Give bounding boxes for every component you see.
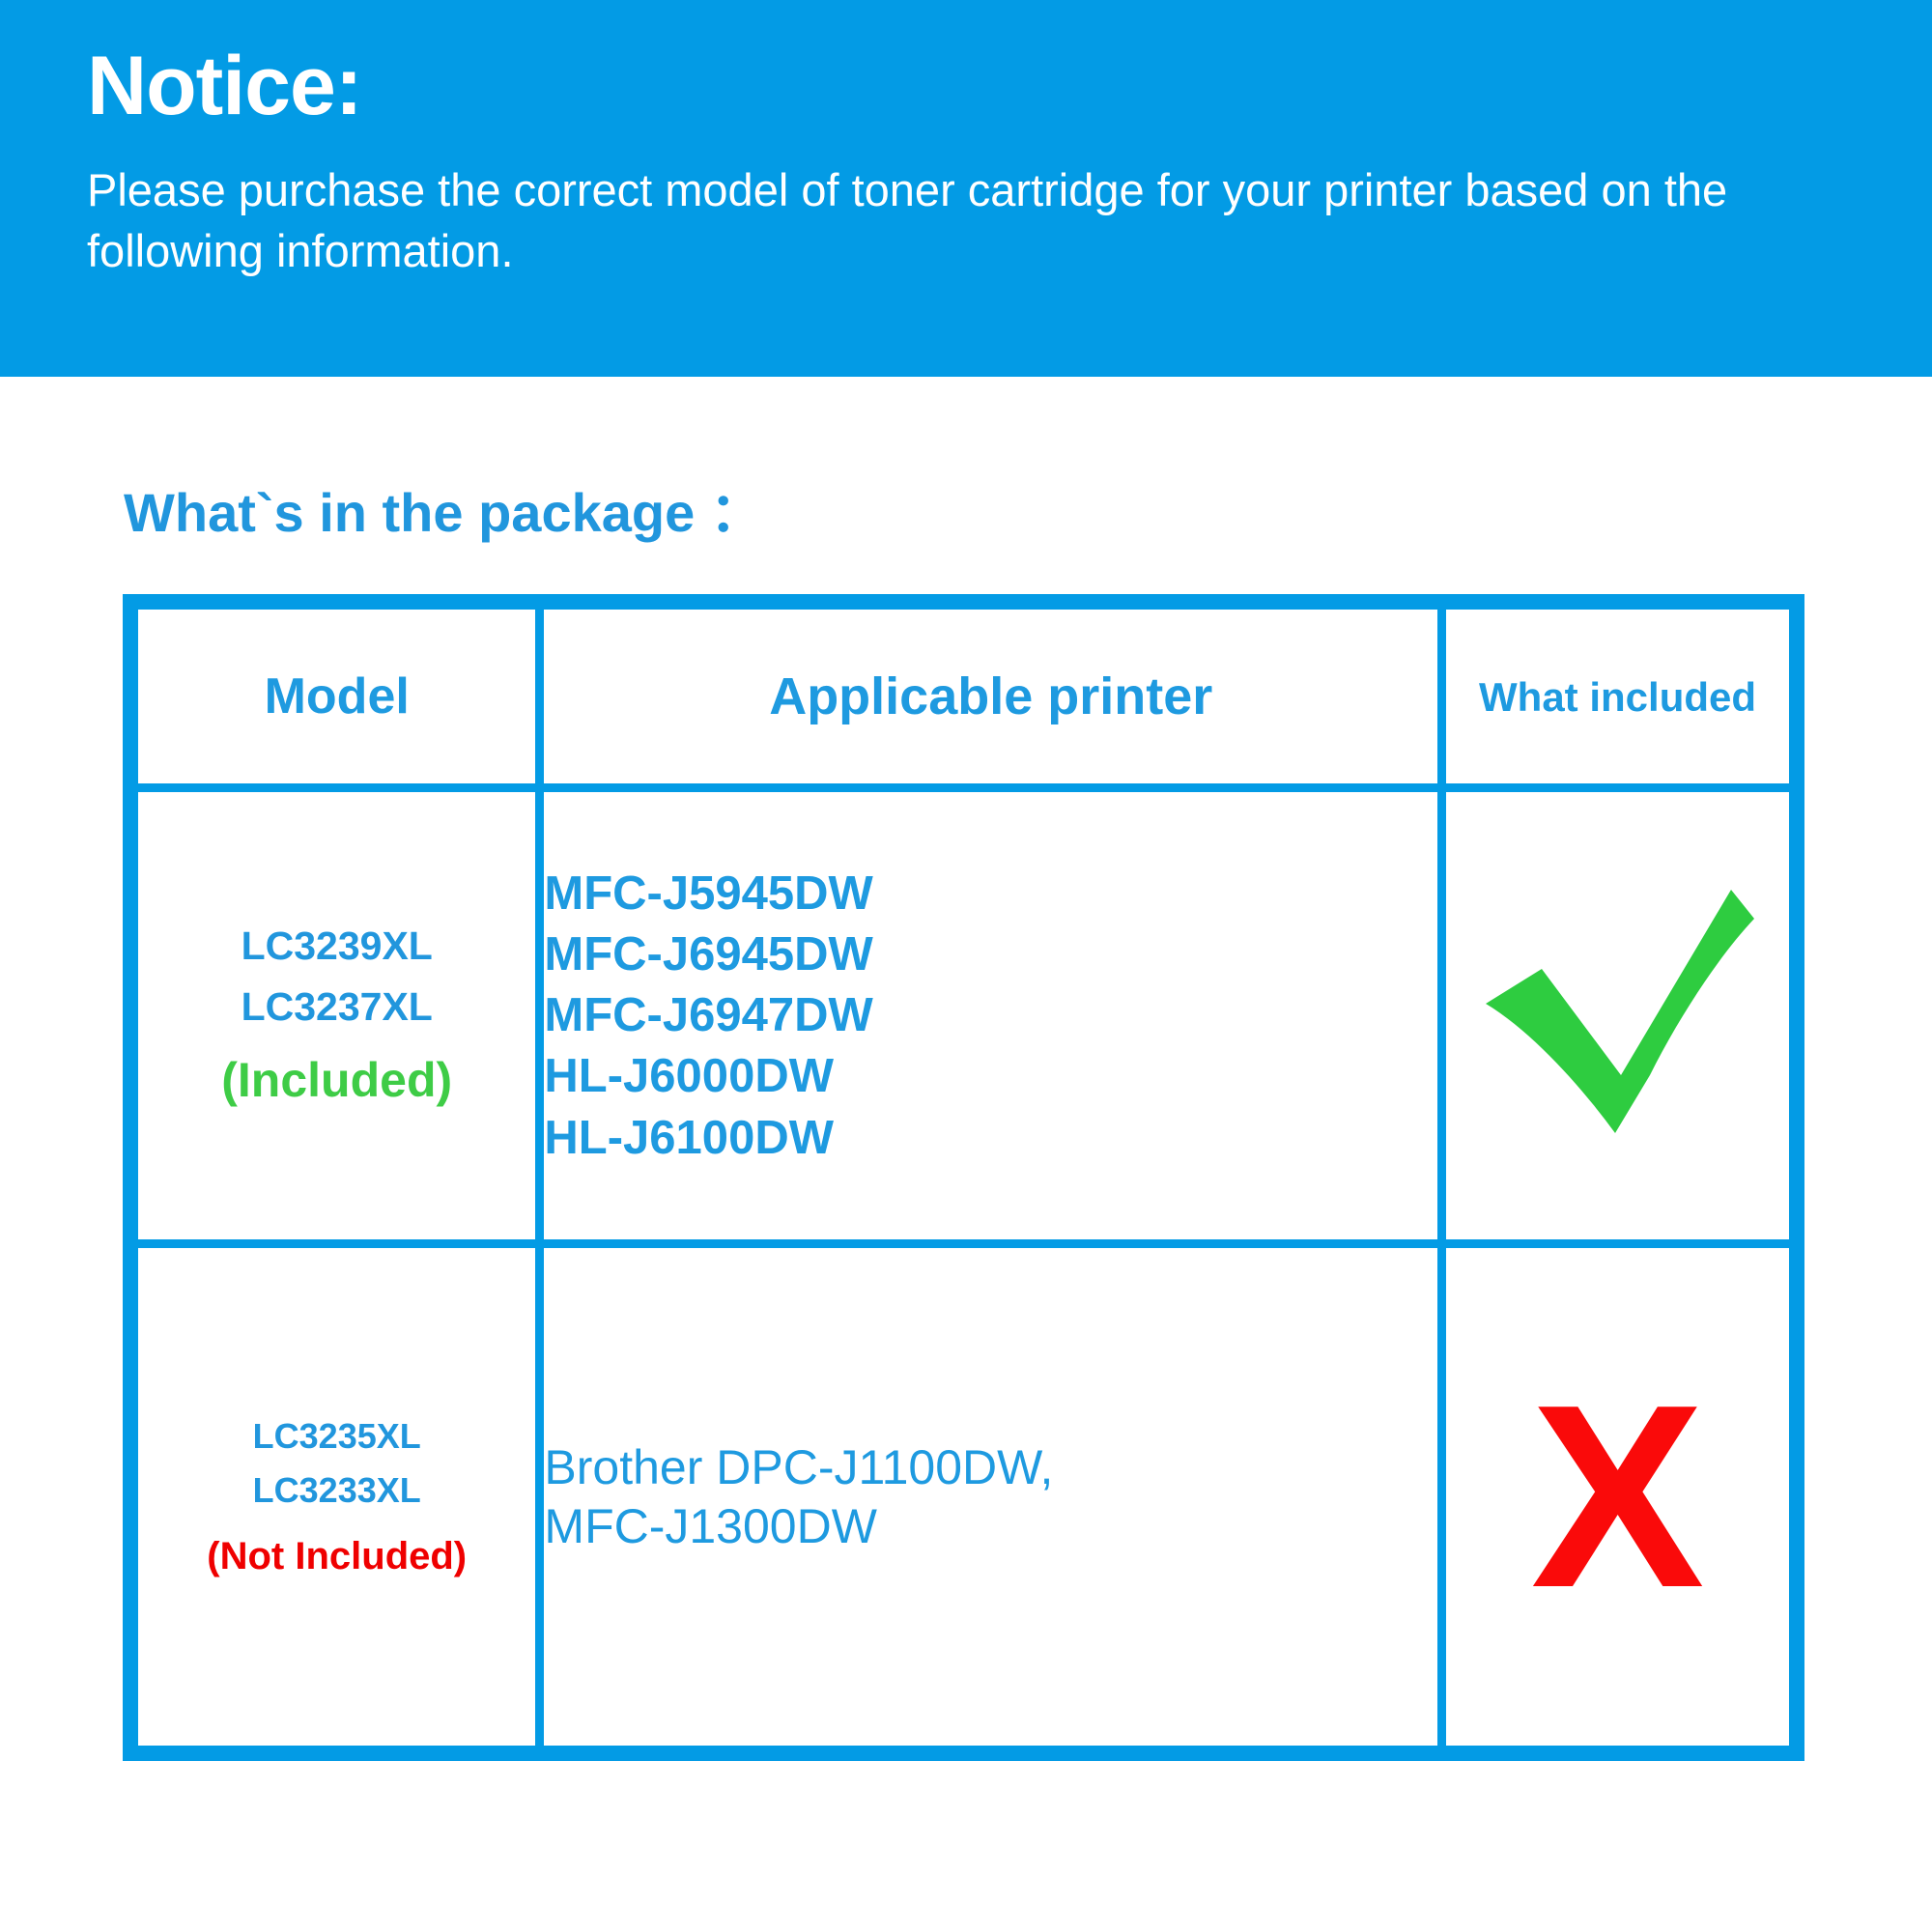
- model-code: LC3237XL: [138, 977, 535, 1038]
- header-cell-what-included: What included: [1442, 602, 1797, 788]
- notice-body-text: Please purchase the correct model of ton…: [87, 160, 1806, 281]
- cell-printers-not-included: Brother DPC-J1100DW, MFC-J1300DW: [540, 1244, 1442, 1753]
- printer-model: HL-J6100DW: [544, 1108, 1437, 1169]
- header-cell-model: Model: [130, 602, 540, 788]
- cross-icon: X: [1530, 1390, 1704, 1604]
- printer-model: MFC-J6947DW: [544, 985, 1437, 1046]
- notice-banner: Notice: Please purchase the correct mode…: [0, 0, 1932, 377]
- column-header-model: Model: [138, 668, 535, 724]
- printer-model: MFC-J1300DW: [544, 1497, 1437, 1556]
- model-code: LC3235XL: [138, 1409, 535, 1463]
- status-badge-not-included: (Not Included): [138, 1527, 535, 1585]
- printer-model: MFC-J5945DW: [544, 864, 1437, 924]
- check-mark-container: [1446, 886, 1789, 1147]
- status-badge-included: (Included): [138, 1044, 535, 1117]
- model-code: LC3233XL: [138, 1463, 535, 1518]
- printer-model: Brother DPC-J1100DW,: [544, 1438, 1437, 1497]
- cell-mark-not-included: X: [1442, 1244, 1797, 1753]
- model-code: LC3239XL: [138, 916, 535, 978]
- cell-printers-included: MFC-J5945DW MFC-J6945DW MFC-J6947DW HL-J…: [540, 788, 1442, 1244]
- column-header-applicable-printer: Applicable printer: [544, 668, 1437, 725]
- cell-mark-included: [1442, 788, 1797, 1244]
- printer-model: HL-J6000DW: [544, 1046, 1437, 1107]
- printer-model: MFC-J6945DW: [544, 924, 1437, 985]
- column-header-what-included: What included: [1446, 674, 1789, 720]
- notice-title: Notice:: [87, 44, 1845, 128]
- table-header-row: Model Applicable printer What included: [130, 602, 1797, 788]
- cross-mark-container: X: [1446, 1390, 1789, 1604]
- table-row: LC3239XL LC3237XL (Included) MFC-J5945DW…: [130, 788, 1797, 1244]
- table-row: LC3235XL LC3233XL (Not Included) Brother…: [130, 1244, 1797, 1753]
- cell-model-not-included: LC3235XL LC3233XL (Not Included): [130, 1244, 540, 1753]
- package-contents-table: Model Applicable printer What included L…: [123, 594, 1804, 1761]
- header-cell-printer: Applicable printer: [540, 602, 1442, 788]
- cell-model-included: LC3239XL LC3237XL (Included): [130, 788, 540, 1244]
- package-section-heading: What`s in the package ：: [124, 469, 764, 548]
- check-icon: [1478, 886, 1758, 1147]
